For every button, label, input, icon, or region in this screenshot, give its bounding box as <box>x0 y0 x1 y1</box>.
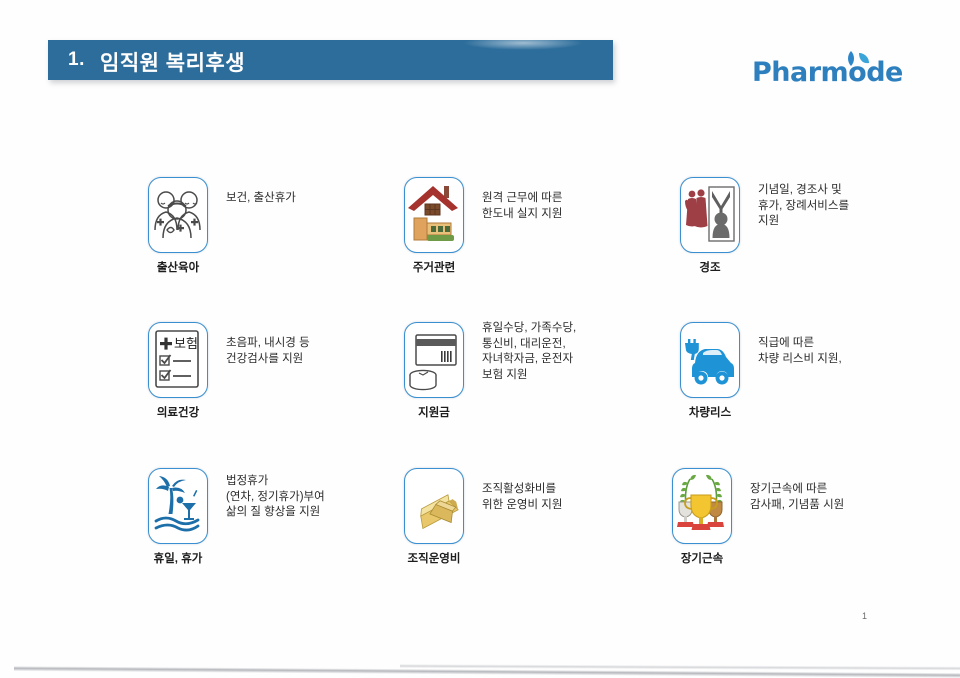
benefit-description: 초음파, 내시경 등 건강검사를 지원 <box>226 336 411 367</box>
benefit-label: 조직운영비 <box>396 550 472 566</box>
benefit-description: 원격 근무에 따른 한도내 실지 지원 <box>482 191 667 222</box>
benefit-label: 지원금 <box>396 404 472 420</box>
trophies-icon <box>672 468 732 544</box>
benefit-label: 장기근속 <box>664 550 740 566</box>
benefit-label: 휴일, 휴가 <box>140 550 216 566</box>
benefit-description: 장기근속에 따른 감사패, 기념품 시원 <box>750 482 935 513</box>
house-icon <box>404 177 464 253</box>
benefits-grid: 출산육아 보건, 출산휴가 주거관련 원격 근무에 따른 한도내 실지 지원 <box>0 0 960 678</box>
electric-car-icon <box>680 322 740 398</box>
family-care-icon <box>148 177 208 253</box>
page-number: 1 <box>862 611 867 621</box>
benefit-description: 법정휴가 (연차, 정기휴가)부여 삶의 질 향상을 지원 <box>226 474 411 521</box>
benefit-label: 주거관련 <box>396 259 472 275</box>
benefit-description: 휴일수당, 가족수당, 통신비, 대리운전, 자녀학자금, 운전자 보험 지원 <box>482 321 667 383</box>
insurance-checklist-icon: 보험 <box>148 322 208 398</box>
card-coins-icon <box>404 322 464 398</box>
benefit-label: 출산육아 <box>140 259 216 275</box>
slide-page: 1. 임직원 복리후생 Pharmode <box>0 0 960 678</box>
gold-bars-icon <box>404 468 464 544</box>
palm-beach-icon <box>148 468 208 544</box>
benefit-label: 차량리스 <box>672 404 748 420</box>
benefit-label: 경조 <box>672 259 748 275</box>
wedding-funeral-icon <box>680 177 740 253</box>
benefit-description: 조직활성화비를 위한 운영비 지원 <box>482 482 667 513</box>
svg-text:보험: 보험 <box>174 337 198 352</box>
benefit-label: 의료건강 <box>140 404 216 420</box>
benefit-description: 보건, 출산휴가 <box>226 191 411 207</box>
benefit-description: 기념일, 경조사 및 휴가, 장례서비스를 지원 <box>758 183 943 230</box>
benefit-description: 직급에 따른 차량 리스비 지원, <box>758 336 943 367</box>
